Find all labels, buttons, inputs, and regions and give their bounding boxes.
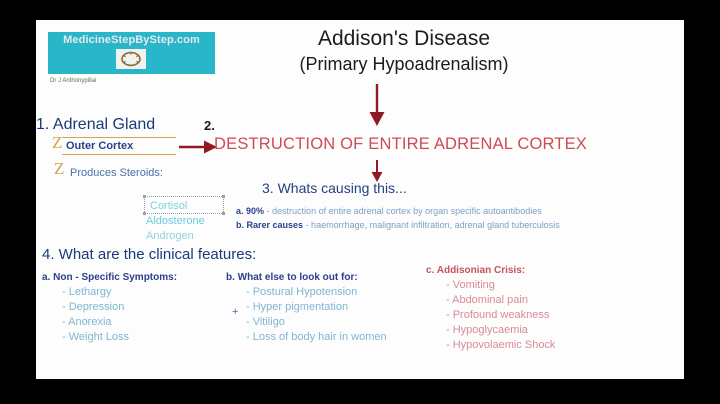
list-item: - Vomiting xyxy=(426,279,555,291)
list-item: - Hypovolaemic Shock xyxy=(426,339,555,351)
section1-heading: 1. Adrenal Gland xyxy=(36,116,155,134)
list-item: - Profound weakness xyxy=(426,309,555,321)
clinical-column-c: c. Addisonian Crisis: - Vomiting - Abdom… xyxy=(426,265,555,351)
circle-logo-icon xyxy=(116,49,146,69)
produces-steroids-label: Produces Steroids: xyxy=(70,167,163,179)
site-logo[interactable]: MedicineStepByStep.com xyxy=(48,32,215,74)
list-item: - Hyper pigmentation xyxy=(226,301,387,313)
list-item: - Anorexia xyxy=(42,316,177,328)
list-item: - Hypoglycaemia xyxy=(426,324,555,336)
steroid-androgen: Androgen xyxy=(146,230,194,242)
section2-number: 2. xyxy=(204,118,215,133)
clinical-column-c-heading: c. Addisonian Crisis: xyxy=(426,265,555,276)
section3-item-a-body: - destruction of entire adrenal cortex b… xyxy=(267,206,542,216)
right-arrow-icon xyxy=(178,138,218,156)
list-item: - Lethargy xyxy=(42,286,177,298)
bracket-mark-icon: Z xyxy=(54,160,64,177)
list-item: - Vitiligo xyxy=(226,316,387,328)
bracket-mark-icon: Z xyxy=(52,134,62,151)
slide-screen: MedicineStepByStep.com Dr J Anthonypilla… xyxy=(0,0,720,404)
title-main: Addison's Disease xyxy=(254,26,554,52)
section2-destruction-text: DESTRUCTION OF ENTIRE ADRENAL CORTEX xyxy=(214,135,587,154)
list-item: - Depression xyxy=(42,301,177,313)
outer-cortex-label: Outer Cortex xyxy=(66,140,133,152)
section3-item-b-body: - haemorrhage, malignant infiltration, a… xyxy=(306,220,560,230)
outer-cortex-rule-top xyxy=(62,137,176,138)
section3-item-b-label: b. Rarer causes xyxy=(236,220,303,230)
steroid-cortisol: Cortisol xyxy=(150,200,187,212)
section3-item-a-label: a. 90% xyxy=(236,206,264,216)
list-item: - Weight Loss xyxy=(42,331,177,343)
clinical-column-b: b. What else to look out for: - Postural… xyxy=(226,272,387,343)
section4-heading: 4. What are the clinical features: xyxy=(42,246,256,263)
slide-canvas: MedicineStepByStep.com Dr J Anthonypilla… xyxy=(36,20,684,379)
section3-heading: 3. Whats causing this... xyxy=(262,180,407,196)
outer-cortex-rule-bottom xyxy=(62,154,176,155)
list-item: - Postural Hypotension xyxy=(226,286,387,298)
clinical-column-a: a. Non - Specific Symptoms: - Lethargy -… xyxy=(42,272,177,343)
page-title: Addison's Disease (Primary Hypoadrenalis… xyxy=(254,26,554,76)
section3-item-b: b. Rarer causes - haemorrhage, malignant… xyxy=(236,220,560,230)
site-logo-text: MedicineStepByStep.com xyxy=(48,34,215,46)
author-credit: Dr J Anthonypillai xyxy=(50,78,96,84)
down-arrow-icon xyxy=(365,82,389,128)
title-subtitle: (Primary Hypoadrenalism) xyxy=(254,52,554,76)
steroid-aldosterone: Aldosterone xyxy=(146,215,205,227)
list-item: - Abdominal pain xyxy=(426,294,555,306)
section3-item-a: a. 90% - destruction of entire adrenal c… xyxy=(236,206,542,216)
clinical-column-a-heading: a. Non - Specific Symptoms: xyxy=(42,272,177,283)
clinical-column-b-heading: b. What else to look out for: xyxy=(226,272,387,283)
list-item: - Loss of body hair in women xyxy=(226,331,387,343)
